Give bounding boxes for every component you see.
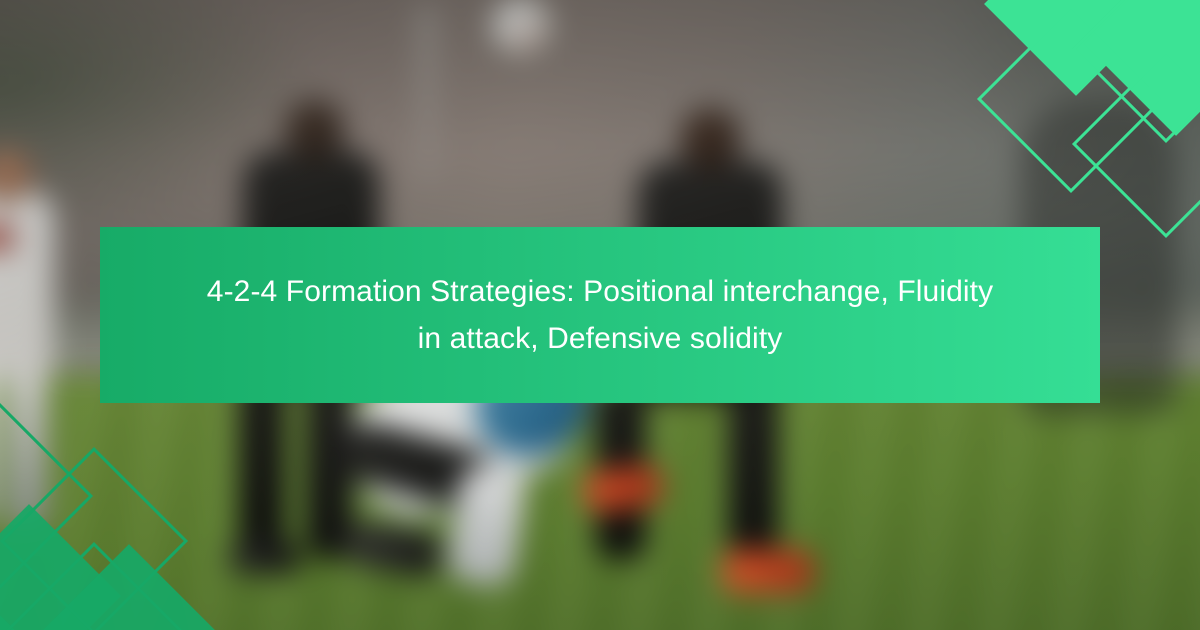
player-black-right-head: [680, 108, 741, 171]
soccer-ball-marking: [512, 26, 541, 45]
goal-post: [421, 5, 432, 183]
og-image-canvas: 4-2-4 Formation Strategies: Positional i…: [0, 0, 1200, 630]
title-banner: 4-2-4 Formation Strategies: Positional i…: [100, 227, 1100, 403]
player-black-right-leg-back: [728, 390, 778, 571]
player-black-right-boot-right: [722, 549, 814, 593]
player-black-left-boot: [228, 541, 302, 575]
player-black-left-head: [285, 100, 344, 161]
player-left-kit-stripe: [0, 224, 14, 251]
player-left-torso: [0, 190, 54, 379]
player-left-leg-back: [8, 364, 48, 532]
page-title: 4-2-4 Formation Strategies: Positional i…: [205, 268, 995, 362]
